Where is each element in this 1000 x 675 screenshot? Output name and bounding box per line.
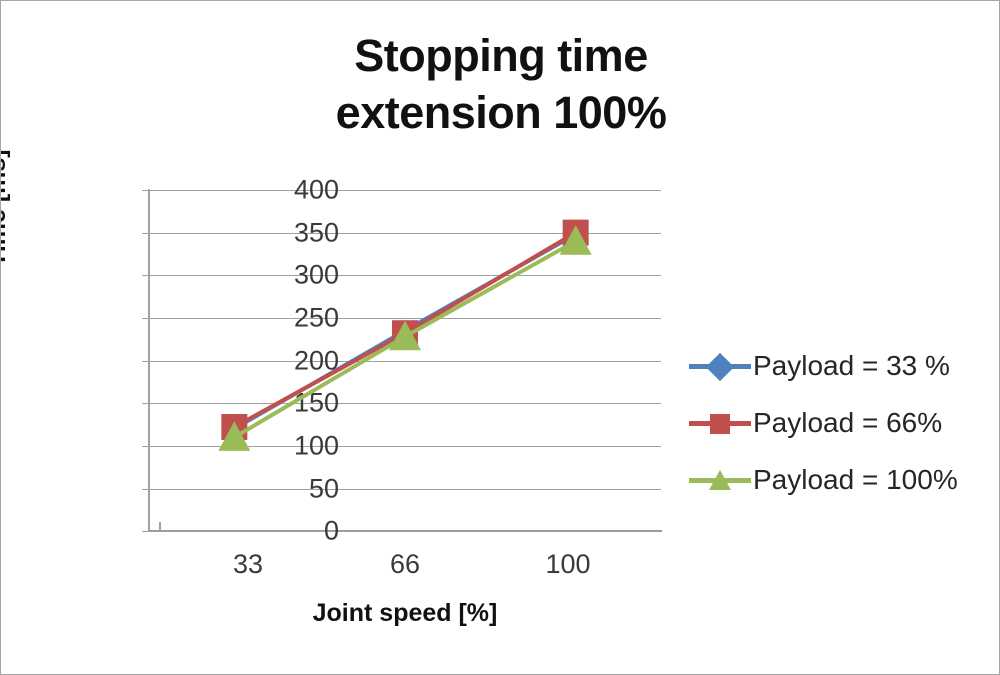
x-tick-label-33: 33: [178, 549, 318, 580]
square-icon: [710, 414, 730, 434]
chart-title: Stopping time extension 100%: [1, 27, 1000, 141]
legend-marker-diamond-icon: [689, 352, 751, 380]
chart-container: Stopping time extension 100% 400 350 300…: [0, 0, 1000, 675]
legend-item-payload-33[interactable]: Payload = 33 %: [689, 337, 989, 394]
x-axis-title: Joint speed [%]: [149, 599, 661, 628]
diamond-icon: [706, 352, 734, 380]
y-tick-label-400: 400: [189, 175, 339, 206]
legend: Payload = 33 % Payload = 66% Payload = 1…: [689, 337, 989, 508]
x-tick-label-66: 66: [335, 549, 475, 580]
legend-label-payload-33: Payload = 33 %: [751, 350, 950, 382]
y-tick-label-350: 350: [189, 218, 339, 249]
legend-label-payload-66: Payload = 66%: [751, 407, 942, 439]
legend-marker-triangle-icon: [689, 466, 751, 494]
y-tick-label-100: 100: [189, 431, 339, 462]
x-tick-label-100: 100: [498, 549, 638, 580]
legend-item-payload-66[interactable]: Payload = 66%: [689, 394, 989, 451]
legend-label-payload-100: Payload = 100%: [751, 464, 958, 496]
legend-marker-square-icon: [689, 409, 751, 437]
y-tick-label-250: 250: [189, 303, 339, 334]
y-tick-label-300: 300: [189, 260, 339, 291]
chart-title-line-1: Stopping time: [354, 30, 647, 81]
chart-title-line-2: extension 100%: [1, 84, 1000, 141]
triangle-icon: [709, 470, 731, 490]
y-tick-label-150: 150: [189, 388, 339, 419]
y-tick-label-200: 200: [189, 346, 339, 377]
legend-item-payload-100[interactable]: Payload = 100%: [689, 451, 989, 508]
y-axis-title: Time [ms]: [0, 149, 12, 267]
y-tick-label-0: 0: [189, 516, 339, 547]
y-tick-label-50: 50: [189, 474, 339, 505]
